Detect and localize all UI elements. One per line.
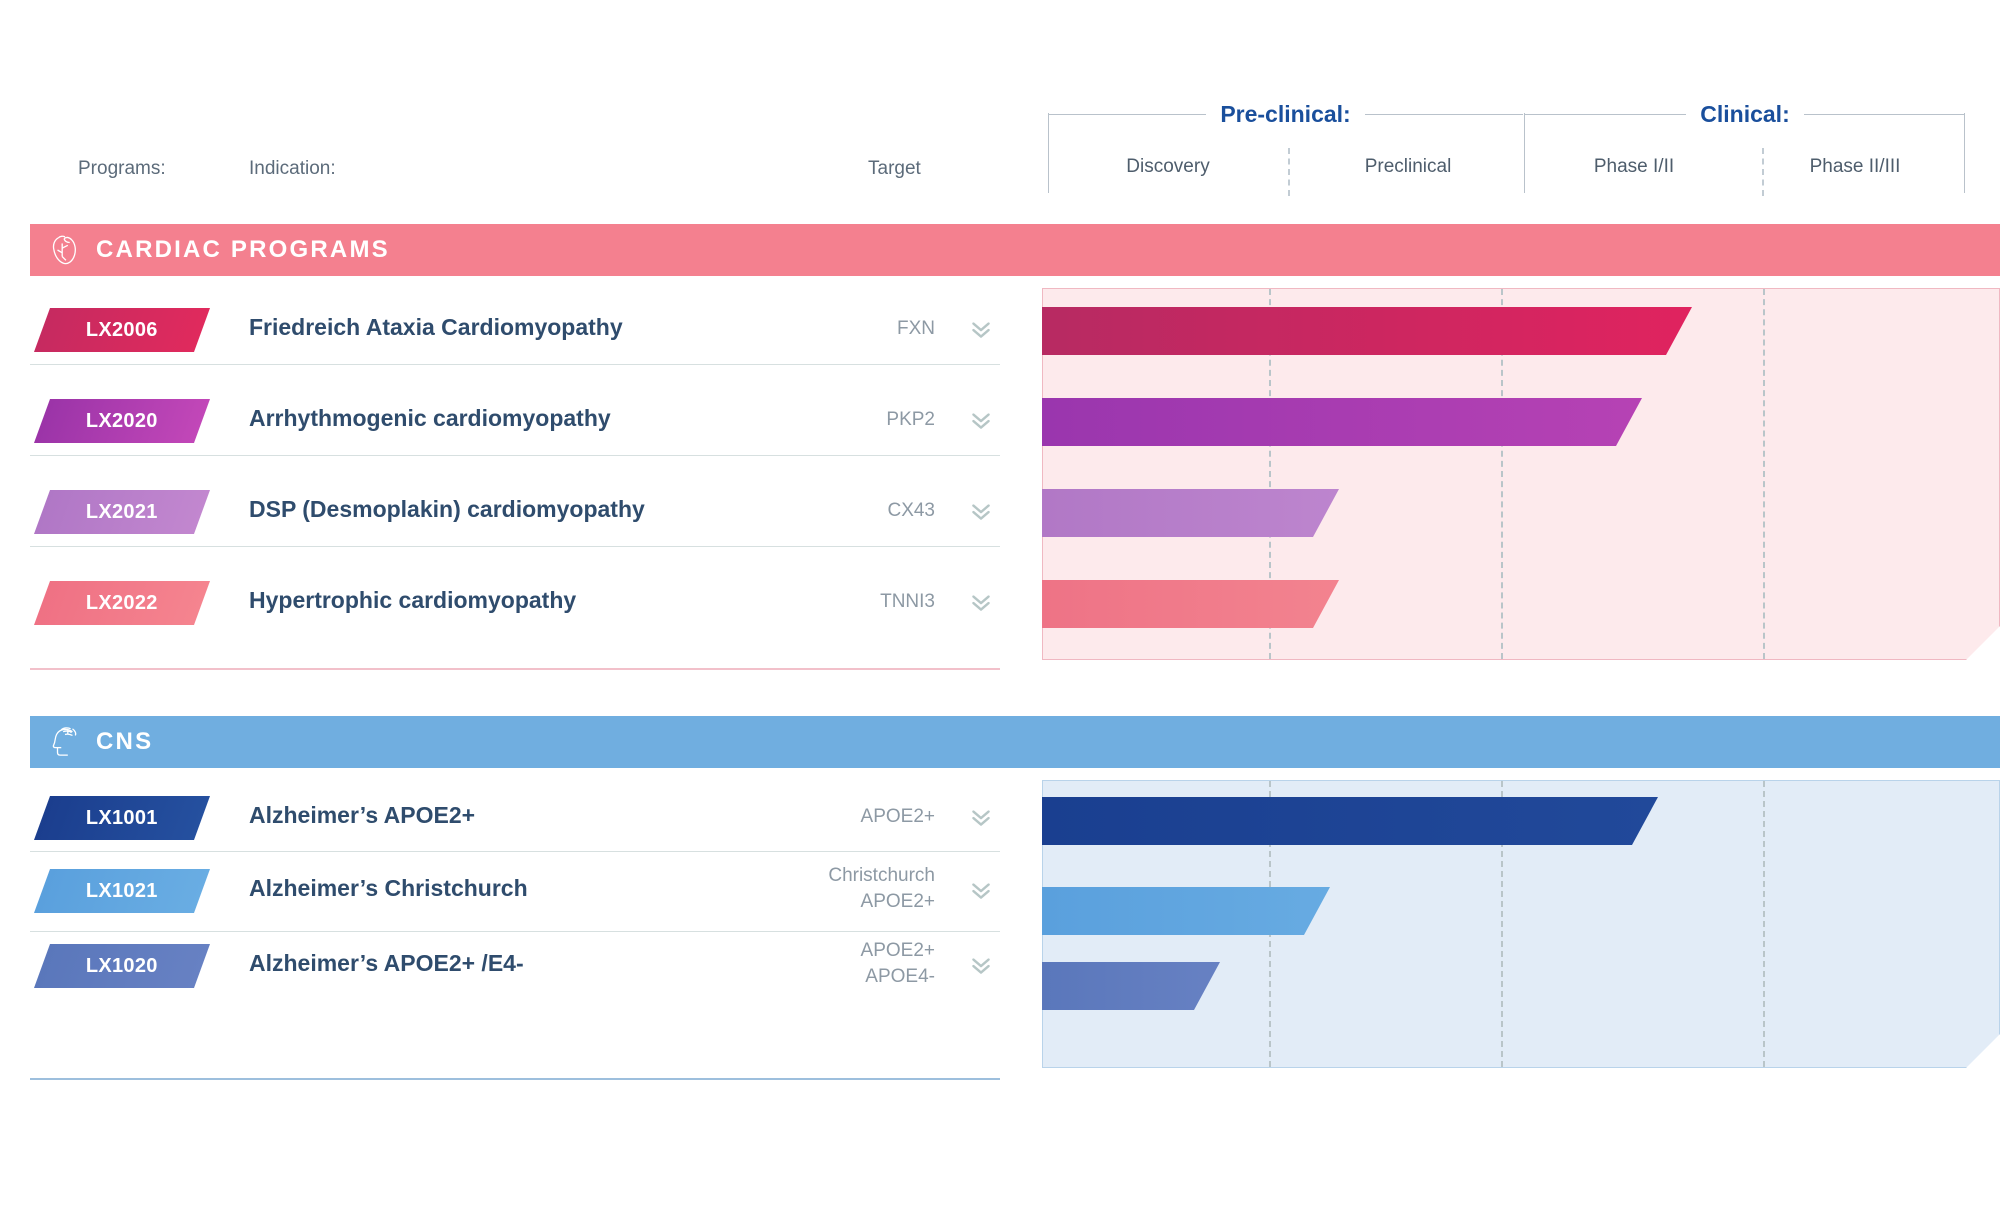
section-banner-cns: CNS: [30, 716, 2000, 768]
program-badge-lx1001[interactable]: LX1001: [34, 796, 210, 840]
pipeline-track-cardiac: [1042, 288, 2000, 660]
group-label-clinical-text: Clinical:: [1686, 103, 1803, 126]
program-target: Christchurch APOE2+: [700, 863, 935, 915]
column-header-target: Target: [868, 158, 921, 180]
bracket-rule-right: [1365, 114, 1523, 115]
program-code: LX1020: [86, 955, 158, 978]
bracket-tick-left: [1048, 113, 1049, 193]
heart-icon: [48, 232, 82, 268]
row-divider: [30, 455, 1000, 456]
program-indication: DSP (Desmoplakin) cardiomyopathy: [249, 496, 645, 523]
progress-bar-lx2021: [1042, 489, 1339, 537]
program-target: APOE2+: [700, 804, 935, 830]
target-line: Christchurch: [700, 863, 935, 889]
chevron-double-down-icon[interactable]: [968, 804, 994, 830]
progress-bar-lx1020: [1042, 962, 1220, 1010]
bracket-rule-left: [1048, 114, 1206, 115]
target-line: APOE4-: [700, 964, 935, 990]
bracket-rule-right-2: [1804, 114, 1965, 115]
row-divider: [30, 931, 1000, 932]
program-code: LX2006: [86, 319, 158, 342]
header-divider-phase12-phase23: [1762, 148, 1764, 196]
header-divider-discovery-preclinical: [1288, 148, 1290, 196]
progress-bar-lx1001: [1042, 797, 1658, 845]
target-line: APOE2+: [700, 938, 935, 964]
chevron-double-down-icon[interactable]: [968, 877, 994, 903]
target-line: CX43: [700, 498, 935, 524]
program-code: LX2020: [86, 410, 158, 433]
program-code: LX1021: [86, 880, 158, 903]
chevron-double-down-icon[interactable]: [968, 589, 994, 615]
program-target: TNNI3: [700, 589, 935, 615]
program-badge-lx1020[interactable]: LX1020: [34, 944, 210, 988]
program-code: LX2022: [86, 592, 158, 615]
target-line: APOE2+: [700, 889, 935, 915]
row-divider: [30, 851, 1000, 852]
section-bottom-rule-cardiac: [30, 668, 1000, 670]
program-indication: Hypertrophic cardiomyopathy: [249, 587, 576, 614]
row-divider: [30, 364, 1000, 365]
program-indication: Alzheimer’s APOE2+: [249, 802, 475, 829]
row-divider: [30, 546, 1000, 547]
track-divider-phase12-phase23: [1763, 781, 1765, 1067]
phase-header-phase-1-2: Phase I/II: [1524, 156, 1744, 178]
group-label-preclinical: Pre-clinical:: [1048, 100, 1523, 128]
target-line: APOE2+: [700, 804, 935, 830]
bracket-tick-middle: [1524, 113, 1525, 193]
program-target: FXN: [700, 316, 935, 342]
progress-bar-lx1021: [1042, 887, 1330, 935]
chevron-double-down-icon[interactable]: [968, 316, 994, 342]
group-label-clinical: Clinical:: [1525, 100, 1965, 128]
program-badge-lx2006[interactable]: LX2006: [34, 308, 210, 352]
program-indication: Alzheimer’s APOE2+ /E4-: [249, 950, 524, 977]
head-brain-icon: [48, 724, 82, 760]
pipeline-track-cns: [1042, 780, 2000, 1068]
program-code: LX2021: [86, 501, 158, 524]
section-bottom-rule-cns: [30, 1078, 1000, 1080]
progress-bar-lx2020: [1042, 398, 1642, 446]
program-target: PKP2: [700, 407, 935, 433]
section-title-cardiac: CARDIAC PROGRAMS: [96, 236, 390, 264]
section-title-cns: CNS: [96, 728, 153, 756]
pipeline-header: Programs: Indication: Target Pre-clinica…: [0, 0, 2000, 210]
program-badge-lx2021[interactable]: LX2021: [34, 490, 210, 534]
program-indication: Friedreich Ataxia Cardiomyopathy: [249, 314, 623, 341]
program-badge-lx1021[interactable]: LX1021: [34, 869, 210, 913]
program-target: CX43: [700, 498, 935, 524]
bracket-tick-right: [1964, 113, 1965, 193]
program-indication: Alzheimer’s Christchurch: [249, 875, 528, 902]
column-header-programs: Programs:: [78, 158, 166, 180]
group-label-preclinical-text: Pre-clinical:: [1206, 103, 1364, 126]
program-badge-lx2020[interactable]: LX2020: [34, 399, 210, 443]
program-code: LX1001: [86, 807, 158, 830]
column-header-indication: Indication:: [249, 158, 336, 180]
target-line: PKP2: [700, 407, 935, 433]
program-target: APOE2+ APOE4-: [700, 938, 935, 990]
program-indication: Arrhythmogenic cardiomyopathy: [249, 405, 611, 432]
phase-header-phase-2-3: Phase II/III: [1744, 156, 1966, 178]
phase-header-preclinical: Preclinical: [1288, 156, 1528, 178]
target-line: FXN: [700, 316, 935, 342]
progress-bar-lx2022: [1042, 580, 1339, 628]
chevron-double-down-icon[interactable]: [968, 952, 994, 978]
phase-header-discovery: Discovery: [1048, 156, 1288, 178]
target-line: TNNI3: [700, 589, 935, 615]
chevron-double-down-icon[interactable]: [968, 498, 994, 524]
chevron-double-down-icon[interactable]: [968, 407, 994, 433]
track-divider-phase12-phase23: [1763, 289, 1765, 659]
section-banner-cardiac: CARDIAC PROGRAMS: [30, 224, 2000, 276]
progress-bar-lx2006: [1042, 307, 1692, 355]
bracket-rule-left-2: [1525, 114, 1686, 115]
program-badge-lx2022[interactable]: LX2022: [34, 581, 210, 625]
